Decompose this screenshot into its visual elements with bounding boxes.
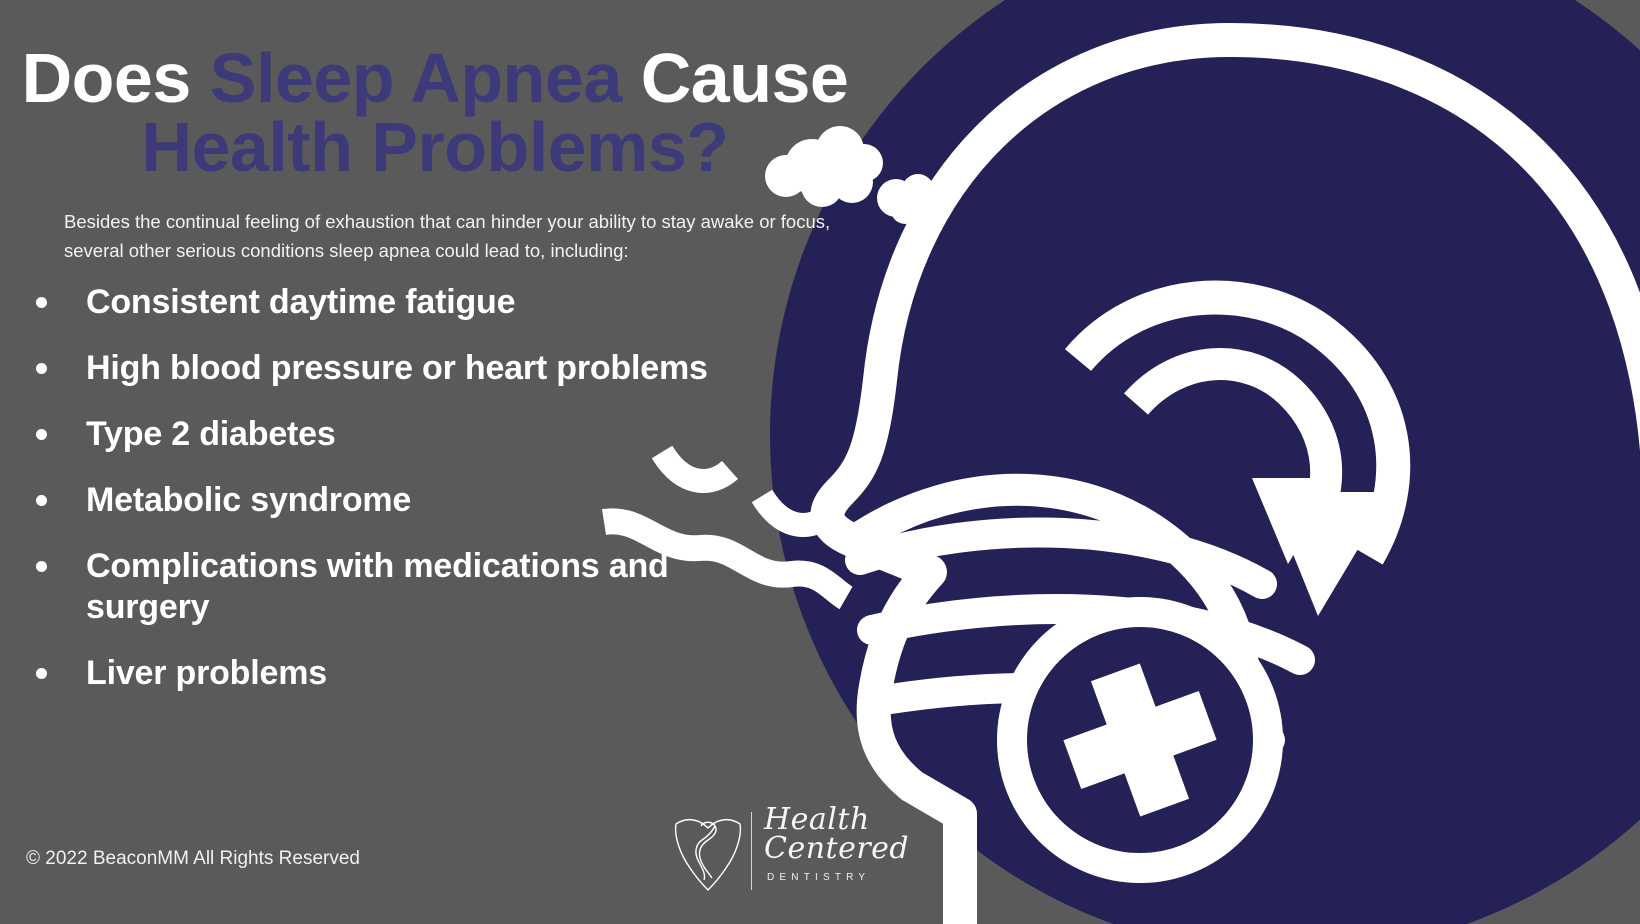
title-line1-accent: Sleep Apnea (210, 39, 622, 117)
list-item-label: Complications with medications and surge… (86, 547, 669, 625)
bullet-dot-icon (36, 668, 47, 679)
bullet-dot-icon (36, 363, 47, 374)
list-item-label: Type 2 diabetes (86, 415, 336, 453)
list-item: Complications with medications and surge… (28, 546, 728, 626)
bullet-dot-icon (36, 429, 47, 440)
text-content-column: Does Sleep Apnea CauseHealth Problems? B… (0, 0, 900, 924)
health-problems-list: Consistent daytime fatigue High blood pr… (28, 282, 728, 719)
list-item-label: Consistent daytime fatigue (86, 283, 515, 321)
list-item-label: Liver problems (86, 654, 327, 692)
copyright-notice: © 2022 BeaconMM All Rights Reserved (26, 848, 360, 870)
title-line1-tail: Cause (622, 39, 849, 117)
bullet-dot-icon (36, 495, 47, 506)
list-item-label: Metabolic syndrome (86, 481, 411, 519)
logo-divider (751, 812, 752, 890)
logo-wordmark: Health Centered (764, 806, 909, 863)
brand-logo[interactable]: Health Centered DENTISTRY (668, 806, 918, 902)
tooth-monogram-icon (668, 806, 748, 896)
list-item: Liver problems (28, 653, 728, 693)
logo-tagline: DENTISTRY (767, 872, 870, 883)
list-item: Metabolic syndrome (28, 480, 728, 520)
list-item: Consistent daytime fatigue (28, 282, 728, 322)
logo-word-line2: Centered (764, 835, 909, 864)
infographic-canvas: Does Sleep Apnea CauseHealth Problems? B… (0, 0, 1640, 924)
list-item: High blood pressure or heart problems (28, 348, 728, 388)
list-item-label: High blood pressure or heart problems (86, 349, 708, 387)
list-item: Type 2 diabetes (28, 414, 728, 454)
title-line2-accent: Health Problems? (141, 108, 728, 186)
bullet-dot-icon (36, 297, 47, 308)
bullet-dot-icon (36, 561, 47, 572)
subtitle-paragraph: Besides the continual feeling of exhaust… (64, 208, 834, 265)
medical-plus-circle-icon (1012, 612, 1268, 868)
title-line1-lead: Does (22, 39, 210, 117)
page-title: Does Sleep Apnea CauseHealth Problems? (0, 44, 870, 181)
